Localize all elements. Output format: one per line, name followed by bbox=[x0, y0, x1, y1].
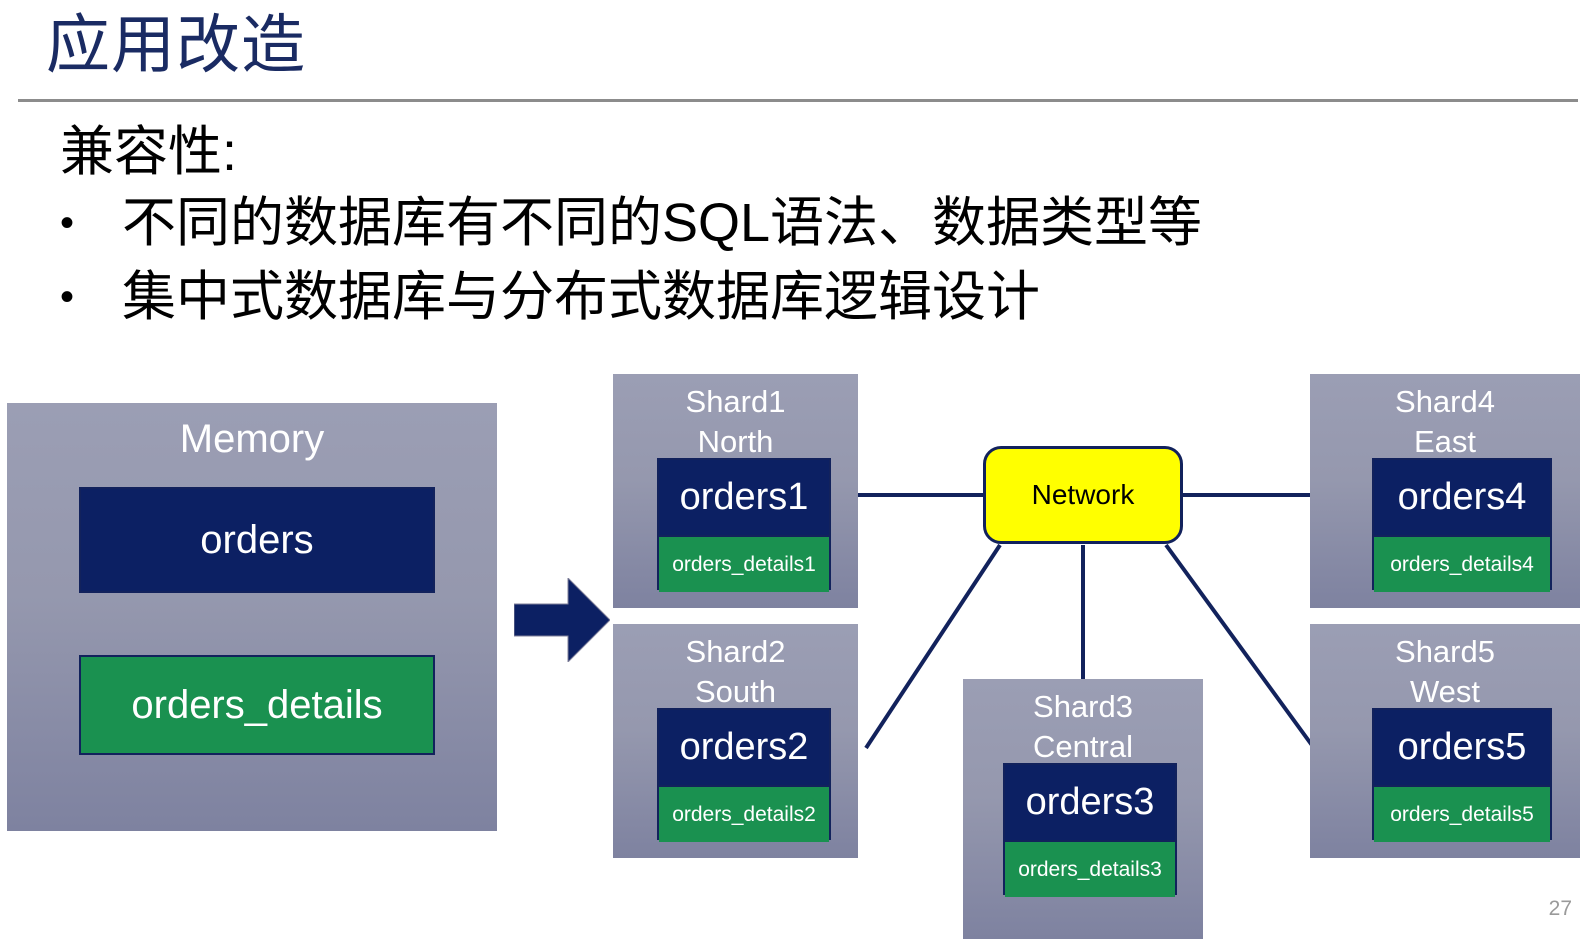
shard-title-shard5: Shard5 West bbox=[1310, 632, 1580, 712]
memory-panel-title: Memory bbox=[7, 415, 497, 463]
shard-tables-shard2: orders2 orders_details2 bbox=[657, 708, 831, 840]
memory-panel: Memory orders orders_details bbox=[7, 403, 497, 831]
table-box-orders: orders bbox=[79, 487, 435, 593]
table-box-orders-details3: orders_details3 bbox=[1005, 840, 1175, 897]
shard-panel-shard4: Shard4 East orders4 orders_details4 bbox=[1310, 374, 1580, 608]
table-box-orders4: orders4 bbox=[1374, 460, 1550, 535]
table-box-orders-details2: orders_details2 bbox=[659, 785, 829, 842]
shard-title-shard1: Shard1 North bbox=[613, 382, 858, 462]
table-box-orders-details: orders_details bbox=[79, 655, 435, 755]
shard-tables-shard5: orders5 orders_details5 bbox=[1372, 708, 1552, 840]
table-box-orders1: orders1 bbox=[659, 460, 829, 535]
network-node[interactable]: Network bbox=[983, 446, 1183, 544]
shard-tables-shard4: orders4 orders_details4 bbox=[1372, 458, 1552, 590]
sharding-diagram: Memory orders orders_details Network Sha… bbox=[0, 0, 1594, 939]
shard-tables-shard1: orders1 orders_details1 bbox=[657, 458, 831, 590]
shard-panel-shard2: Shard2 South orders2 orders_details2 bbox=[613, 624, 858, 858]
table-box-orders-details5: orders_details5 bbox=[1374, 785, 1550, 842]
shard-panel-shard5: Shard5 West orders5 orders_details5 bbox=[1310, 624, 1580, 858]
table-box-orders-details1: orders_details1 bbox=[659, 535, 829, 592]
table-box-orders2: orders2 bbox=[659, 710, 829, 785]
shard-tables-shard3: orders3 orders_details3 bbox=[1003, 763, 1177, 895]
slide-number: 27 bbox=[1549, 897, 1572, 921]
table-box-orders3: orders3 bbox=[1005, 765, 1175, 840]
shard-title-shard2: Shard2 South bbox=[613, 632, 858, 712]
shard-title-shard3: Shard3 Central bbox=[963, 687, 1203, 767]
right-arrow-icon bbox=[514, 578, 610, 662]
table-box-orders5: orders5 bbox=[1374, 710, 1550, 785]
shard-title-shard4: Shard4 East bbox=[1310, 382, 1580, 462]
shard-panel-shard3: Shard3 Central orders3 orders_details3 bbox=[963, 679, 1203, 939]
shard-panel-shard1: Shard1 North orders1 orders_details1 bbox=[613, 374, 858, 608]
table-box-orders-details4: orders_details4 bbox=[1374, 535, 1550, 592]
